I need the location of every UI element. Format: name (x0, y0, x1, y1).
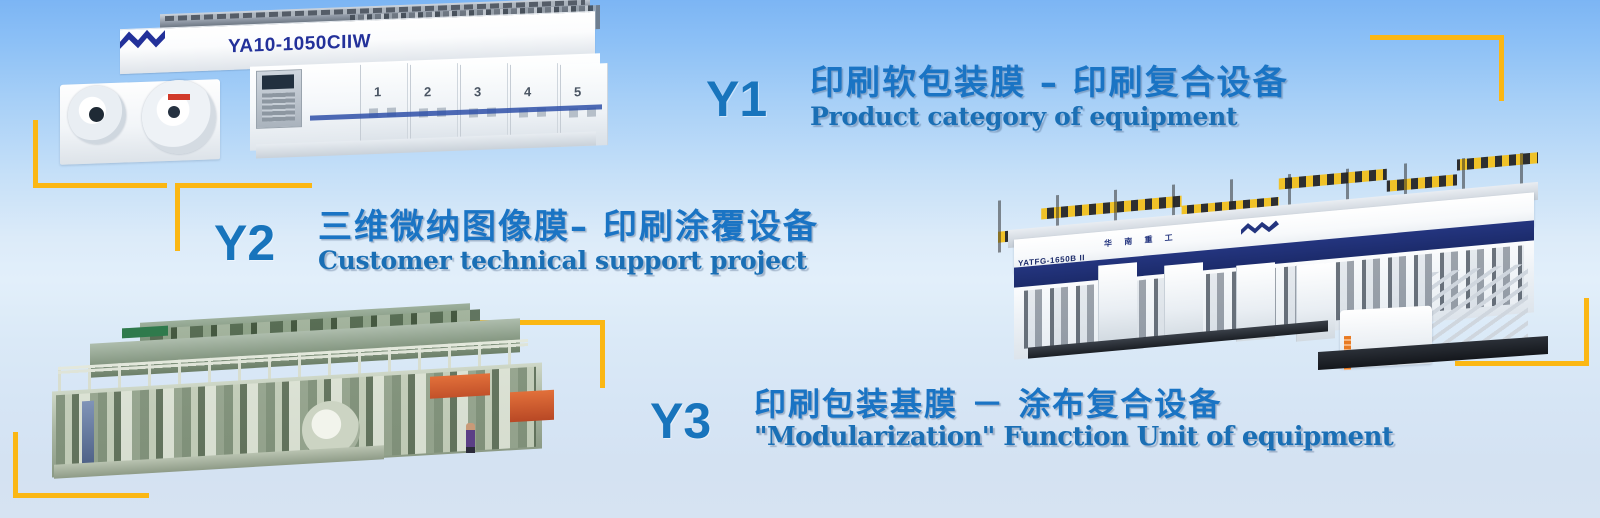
bracket-mid-center-vertical (600, 320, 605, 388)
machine1-control-keypad (262, 92, 295, 121)
machine1-film-roll (68, 86, 126, 144)
machine1-red-marker (168, 94, 190, 100)
machine1-unit-number: 1 (374, 84, 381, 99)
row-chinese-title-y3: 印刷包装基膜 － 涂布复合设备 (754, 388, 1393, 422)
machine1-print-unit: 1 (360, 63, 408, 147)
text-row-y2: Y2 三维微纳图像膜– 印刷涂覆设备 Customer technical su… (214, 210, 819, 274)
machine-image-printing-press: YA10-1050CIIW 1 2 3 4 5 (60, 6, 605, 178)
bracket-mid-left-vertical (175, 183, 180, 251)
machine1-film-roll (142, 80, 216, 154)
row-text-block-y1: 印刷软包装膜 – 印刷复合设备 Product category of equi… (810, 66, 1289, 130)
bracket-mid-left-horizontal (175, 183, 312, 188)
machine1-print-unit: 2 (410, 63, 458, 147)
row-text-block-y2: 三维微纳图像膜– 印刷涂覆设备 Customer technical suppo… (318, 210, 819, 274)
bracket-bottom-left-horizontal (13, 493, 149, 498)
text-row-y3: Y3 印刷包装基膜 － 涂布复合设备 "Modularization" Func… (650, 388, 1393, 451)
machine-image-coating-line (30, 305, 575, 485)
row-code-y3: Y3 (650, 396, 711, 446)
text-row-y1: Y1 印刷软包装膜 – 印刷复合设备 Product category of e… (706, 66, 1289, 130)
machine3-blue-column (82, 401, 94, 466)
machine2-station (1164, 262, 1203, 342)
machine2-station (1098, 262, 1137, 342)
bracket-top-left-horizontal (33, 183, 167, 188)
bracket-right-horizontal (1455, 361, 1589, 366)
machine1-unit-number: 5 (574, 84, 581, 99)
machine3-orange-module (430, 373, 490, 399)
machine1-unit-number: 2 (424, 84, 431, 99)
machine1-unit-number: 4 (524, 84, 531, 99)
row-text-block-y3: 印刷包装基膜 － 涂布复合设备 "Modularization" Functio… (754, 388, 1393, 451)
bracket-bottom-left-vertical (13, 432, 18, 498)
row-chinese-title-y2: 三维微纳图像膜– 印刷涂覆设备 (318, 210, 819, 246)
machine1-brand-logo-icon (116, 26, 170, 56)
promotional-banner: YA10-1050CIIW 1 2 3 4 5 (0, 0, 1600, 518)
row-code-y1: Y1 (706, 74, 767, 124)
machine3-orange-module (510, 390, 554, 423)
machine1-control-panel (256, 69, 302, 129)
row-english-subtitle-y2: Customer technical support project (318, 248, 819, 274)
row-english-subtitle-y3: "Modularization" Function Unit of equipm… (754, 424, 1393, 451)
bracket-top-left-vertical (33, 120, 38, 188)
bracket-top-right-horizontal (1370, 35, 1504, 40)
machine3-worker-figure (466, 423, 475, 453)
machine1-control-screen (262, 74, 294, 89)
machine-image-laminating-line: 华 南 重 工 YATFG-1650B II (988, 158, 1588, 358)
row-code-y2: Y2 (214, 218, 275, 268)
row-chinese-title-y1: 印刷软包装膜 – 印刷复合设备 (810, 66, 1289, 102)
row-english-subtitle-y1: Product category of equipment (810, 104, 1289, 130)
bracket-top-right-vertical (1499, 35, 1504, 101)
machine2-access-stairs (1432, 264, 1528, 349)
machine1-unit-number: 3 (474, 84, 481, 99)
